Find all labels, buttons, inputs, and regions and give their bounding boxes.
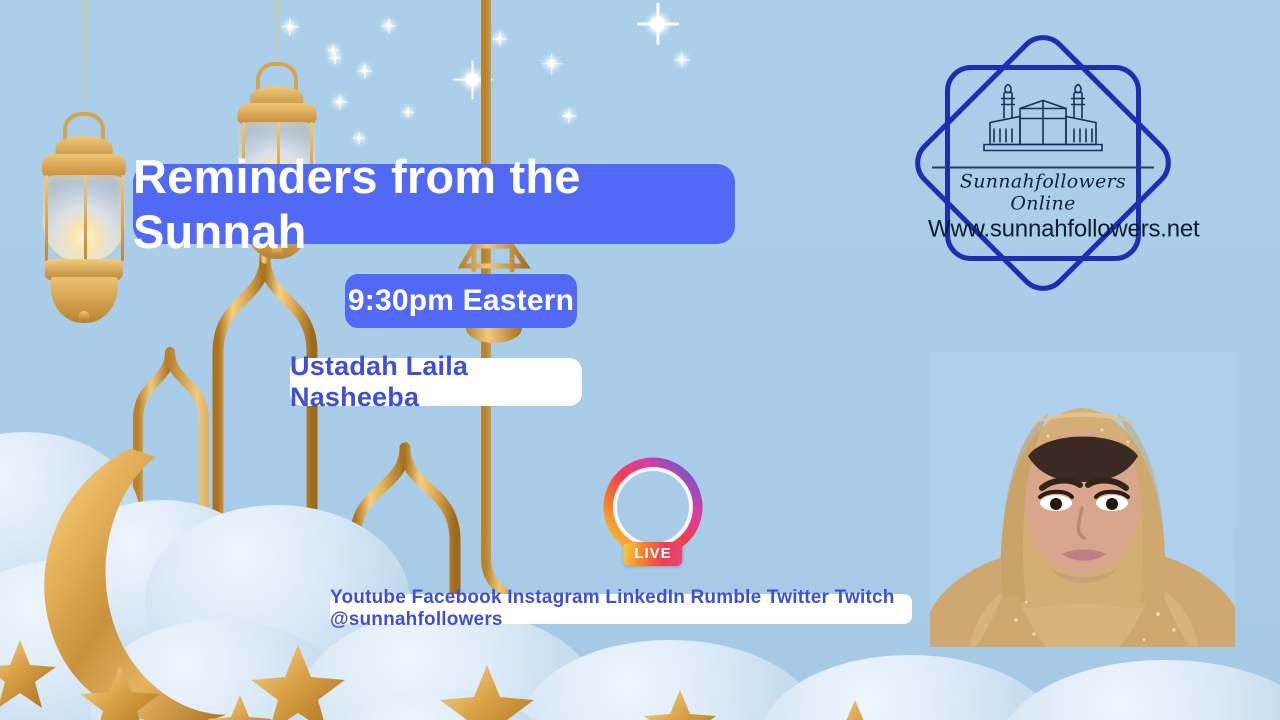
logo-url: Www.sunnahfollowers.net [928,216,1158,244]
socials-banner: Youtube Facebook Instagram LinkedIn Rumb… [330,594,912,624]
time-text: 9:30pm Eastern [348,284,574,318]
logo-divider [932,167,1154,169]
socials-text: Youtube Facebook Instagram LinkedIn Rumb… [330,587,912,631]
lantern-base [45,259,123,280]
speaker-banner: Ustadah Laila Nasheeba [290,358,582,406]
presenter-portrait [930,352,1235,647]
live-indicator[interactable]: LIVE [598,452,708,564]
lantern-top [42,154,126,177]
title-banner: Reminders from the Sunnah [133,164,735,244]
speaker-name: Ustadah Laila Nasheeba [290,351,582,413]
lantern-rib [45,175,48,261]
lantern-rib [121,175,124,261]
title-text: Reminders from the Sunnah [133,149,735,259]
lantern-top [237,103,316,124]
lantern-finial [79,311,90,322]
live-badge: LIVE [623,542,682,566]
presenter-webcam[interactable] [930,352,1235,647]
brand-logo: Sunnahfollowers Online Www.sunnahfollowe… [888,8,1198,318]
time-banner: 9:30pm Eastern [345,274,577,328]
mosque-icon [968,83,1118,165]
stream-overlay-canvas: Reminders from the Sunnah 9:30pm Eastern… [0,0,1280,720]
lantern-left [35,112,133,317]
logo-brand-script: Sunnahfollowers Online [928,171,1158,215]
logo-content: Sunnahfollowers Online Www.sunnahfollowe… [928,83,1158,244]
lantern-rib [84,175,87,261]
